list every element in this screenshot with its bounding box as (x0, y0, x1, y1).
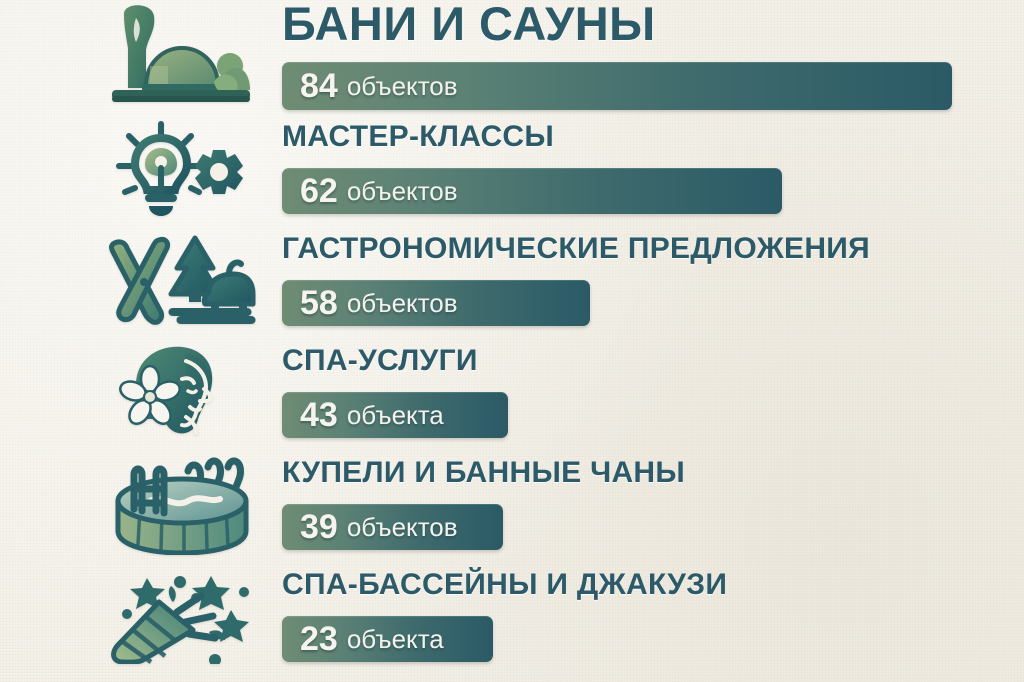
row-content: КУПЕЛИ И БАННЫЕ ЧАНЫ 39 объектов (282, 448, 1024, 560)
value-unit: объектов (347, 290, 458, 316)
row-content: МАСТЕР-КЛАССЫ 62 объектов (282, 112, 1024, 224)
row-content: СПА-БАССЕЙНЫ И ДЖАКУЗИ 23 объекта (282, 560, 1024, 672)
value-count: 43 (300, 398, 338, 432)
woman-profile-flower-icon (96, 338, 266, 446)
category-label: МАСТЕР-КЛАССЫ (282, 120, 554, 154)
value-count: 58 (300, 286, 338, 320)
party-popper-icon (96, 562, 266, 670)
stat-row: СПА-БАССЕЙНЫ И ДЖАКУЗИ 23 объекта (0, 560, 1024, 672)
lightbulb-gear-icon (96, 114, 266, 222)
value-count: 39 (300, 510, 338, 544)
value-count: 62 (300, 174, 338, 208)
infographic-canvas: БАНИ И САУНЫ 84 объектов (0, 0, 1024, 682)
stat-row: БАНИ И САУНЫ 84 объектов (0, 0, 1024, 112)
sauna-banya-icon (96, 2, 266, 110)
value-bar: 39 объектов (282, 504, 503, 550)
stat-row: СПА-УСЛУГИ 43 объекта (0, 336, 1024, 448)
value-bar: 43 объекта (282, 392, 508, 438)
value-count: 23 (300, 622, 338, 656)
stat-row: ГАСТРОНОМИЧЕСКИЕ ПРЕДЛОЖЕНИЯ 58 объектов (0, 224, 1024, 336)
row-content: ГАСТРОНОМИЧЕСКИЕ ПРЕДЛОЖЕНИЯ 58 объектов (282, 224, 1024, 336)
category-label: ГАСТРОНОМИЧЕСКИЕ ПРЕДЛОЖЕНИЯ (282, 232, 870, 266)
value-unit: объекта (347, 626, 444, 652)
value-count: 84 (300, 69, 338, 103)
stat-row: МАСТЕР-КЛАССЫ 62 объектов (0, 112, 1024, 224)
skis-tree-sled-icon (96, 226, 266, 334)
value-bar: 23 объекта (282, 616, 493, 662)
value-bar: 62 объектов (282, 168, 782, 214)
value-bar: 58 объектов (282, 280, 590, 326)
category-label: СПА-БАССЕЙНЫ И ДЖАКУЗИ (282, 568, 727, 602)
hot-tub-icon (96, 450, 266, 558)
value-bar: 84 объектов (282, 62, 952, 110)
category-label: СПА-УСЛУГИ (282, 344, 478, 378)
value-unit: объектов (347, 73, 458, 99)
category-label: КУПЕЛИ И БАННЫЕ ЧАНЫ (282, 456, 685, 490)
value-unit: объекта (347, 402, 444, 428)
stat-row: КУПЕЛИ И БАННЫЕ ЧАНЫ 39 объектов (0, 448, 1024, 560)
row-content: СПА-УСЛУГИ 43 объекта (282, 336, 1024, 448)
value-unit: объектов (347, 178, 458, 204)
row-content: БАНИ И САУНЫ 84 объектов (282, 0, 1024, 112)
category-label: БАНИ И САУНЫ (282, 0, 656, 51)
value-unit: объектов (347, 514, 458, 540)
